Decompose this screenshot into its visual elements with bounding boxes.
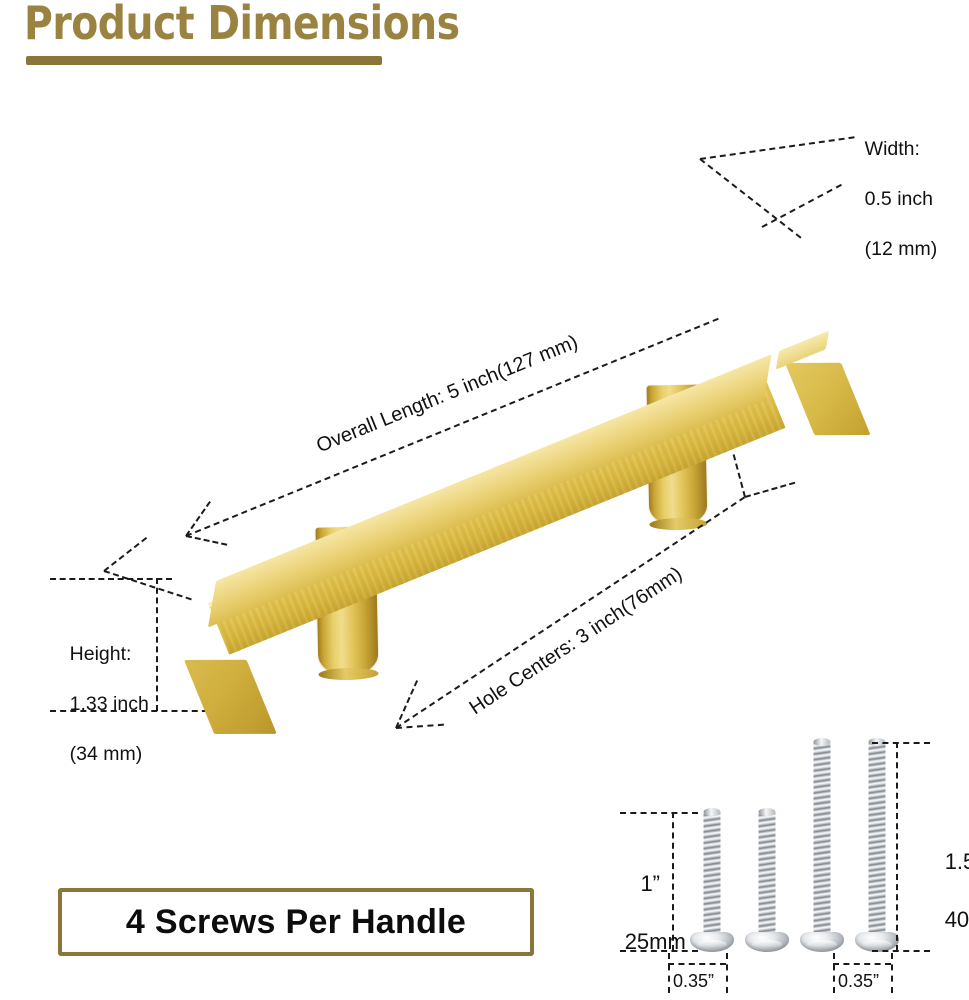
screw-head-ring bbox=[697, 940, 727, 949]
height-extension-line-top bbox=[50, 578, 172, 580]
handle-square-bar bbox=[178, 205, 838, 625]
height-annotation: Height: 1.33 inch (34 mm) bbox=[48, 617, 149, 792]
screw-long-extension-top bbox=[872, 742, 930, 744]
cabinet-pull-handle bbox=[178, 205, 838, 725]
handle-bar-top-face bbox=[208, 354, 772, 627]
width-annotation: Width: 0.5 inch (12 mm) bbox=[843, 112, 937, 287]
screw-short-length-label: 1” 25mm bbox=[588, 840, 660, 985]
screw-head-width-left-bracket bbox=[668, 963, 726, 965]
screw-long-1 bbox=[800, 742, 844, 952]
screw-head-width-left-tick-start bbox=[668, 953, 670, 993]
width-leader-line-upper bbox=[700, 136, 855, 160]
screw-head-ring bbox=[862, 940, 892, 949]
screw-shaft bbox=[869, 742, 886, 938]
handle-bar-group bbox=[178, 205, 838, 675]
screw-head bbox=[690, 932, 734, 952]
screw-short-extension-top bbox=[620, 812, 698, 814]
title-underline-rule bbox=[26, 56, 382, 65]
screw-head-width-left-label: 0.35” bbox=[673, 971, 714, 992]
screw-head-ring bbox=[752, 940, 782, 949]
width-value-metric: (12 mm) bbox=[865, 238, 938, 260]
screws-per-handle-banner: 4 Screws Per Handle bbox=[58, 888, 534, 956]
width-label: Width: bbox=[865, 138, 920, 160]
screw-head-ring bbox=[807, 940, 837, 949]
screw-long-dimension-line bbox=[896, 742, 898, 951]
screw-short-length-metric: 25mm bbox=[625, 929, 686, 954]
handle-end-cap-right bbox=[785, 363, 871, 435]
height-label: Height: bbox=[70, 643, 132, 665]
screw-shaft-tip bbox=[759, 808, 776, 816]
screw-shaft-tip bbox=[814, 738, 831, 746]
screw-head bbox=[855, 932, 899, 952]
page-title: Product Dimensions bbox=[24, 0, 460, 50]
handle-end-cap-left bbox=[184, 660, 277, 734]
screw-head-width-right-tick-end bbox=[891, 953, 893, 993]
screw-short-1 bbox=[690, 812, 734, 952]
product-dimensions-infographic: Product Dimensions Width: 0.5 inch (12 m… bbox=[0, 0, 969, 1000]
screw-head bbox=[800, 932, 844, 952]
screw-head bbox=[745, 932, 789, 952]
screw-long-length-label: 1.57” 40mm bbox=[908, 818, 969, 963]
screw-shaft-tip bbox=[704, 808, 721, 816]
height-leader-line-upper bbox=[103, 537, 147, 572]
screw-short-length-imperial: 1” bbox=[640, 871, 660, 896]
screw-short-2 bbox=[745, 812, 789, 952]
screws-per-handle-text: 4 Screws Per Handle bbox=[126, 903, 466, 942]
screw-head-width-right-label: 0.35” bbox=[838, 971, 879, 992]
height-dimension-line bbox=[156, 578, 158, 711]
handle-post-left-base bbox=[318, 667, 378, 680]
screw-head-width-left-tick-end bbox=[726, 953, 728, 993]
width-value-imperial: 0.5 inch bbox=[865, 188, 933, 210]
screw-shaft bbox=[704, 812, 721, 938]
screw-long-2 bbox=[855, 742, 899, 952]
screw-shaft bbox=[759, 812, 776, 938]
height-value-imperial: 1.33 inch bbox=[70, 693, 149, 715]
screw-head-width-right-tick-start bbox=[833, 953, 835, 993]
screw-long-length-metric: 40mm bbox=[945, 907, 969, 932]
screw-long-length-imperial: 1.57” bbox=[945, 849, 969, 874]
screw-head-width-right-bracket bbox=[833, 963, 891, 965]
screw-shaft bbox=[814, 742, 831, 938]
height-value-metric: (34 mm) bbox=[70, 743, 143, 765]
